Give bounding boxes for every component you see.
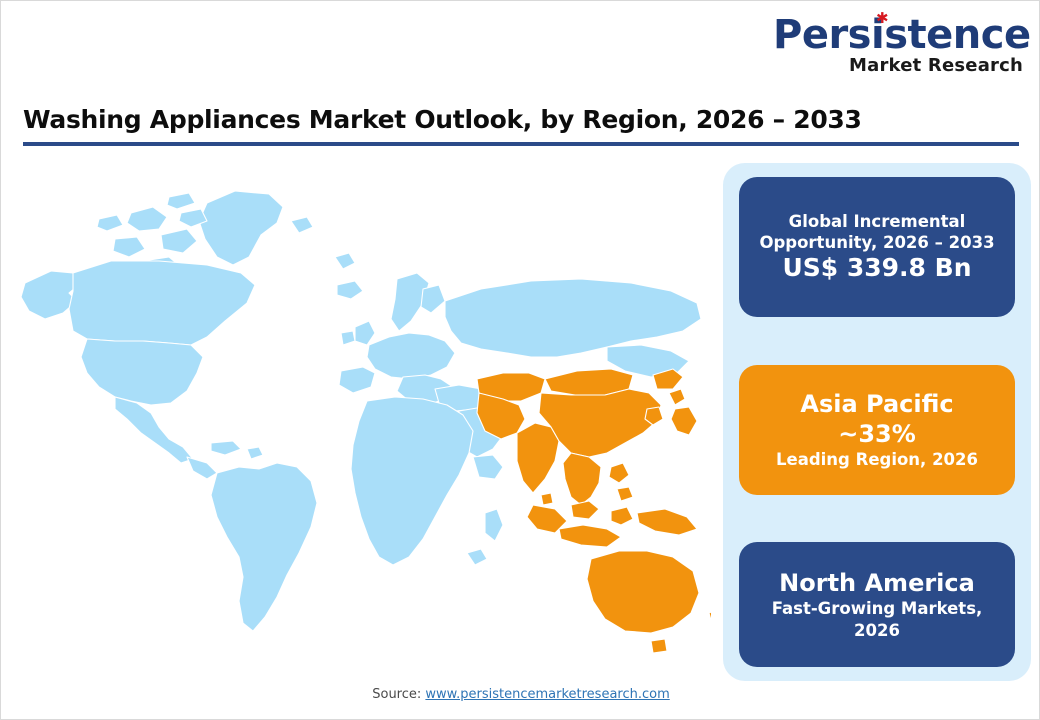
global-opportunity-line1: Global Incremental [789,211,966,232]
fast-growing-caption-line1: Fast-Growing Markets, [772,598,983,619]
logo-wordmark: Persistence ✱ [773,15,1031,55]
fast-growing-region-name: North America [779,568,975,598]
source-label: Source: [372,687,425,702]
page-title: Washing Appliances Market Outlook, by Re… [23,105,1019,134]
stat-card-fast-growing-market: North America Fast-Growing Markets, 2026 [739,542,1015,667]
stat-card-global-incremental-opportunity: Global Incremental Opportunity, 2026 – 2… [739,177,1015,317]
stats-panel: Global Incremental Opportunity, 2026 – 2… [723,163,1031,681]
fast-growing-caption-line2: 2026 [854,620,900,641]
logo-name-text: Persistence [773,12,1031,58]
infographic-page: Persistence ✱ Market Research Washing Ap… [0,0,1040,720]
world-map [11,161,711,671]
logo-tagline: Market Research [773,57,1023,75]
leading-region-share: ~33% [838,419,916,449]
leading-region-caption: Leading Region, 2026 [776,449,978,470]
leading-region-name: Asia Pacific [800,389,953,419]
title-divider [23,142,1019,146]
global-opportunity-line2: Opportunity, 2026 – 2033 [759,232,994,253]
global-opportunity-value: US$ 339.8 Bn [782,253,971,283]
logo-star-icon: ✱ [876,12,888,24]
map-region-asia-pacific [477,369,711,653]
stat-card-leading-region: Asia Pacific ~33% Leading Region, 2026 [739,365,1015,495]
company-logo: Persistence ✱ Market Research [773,15,1023,75]
source-link[interactable]: www.persistencemarketresearch.com [425,687,669,702]
source-line: Source: www.persistencemarketresearch.co… [1,687,1040,702]
